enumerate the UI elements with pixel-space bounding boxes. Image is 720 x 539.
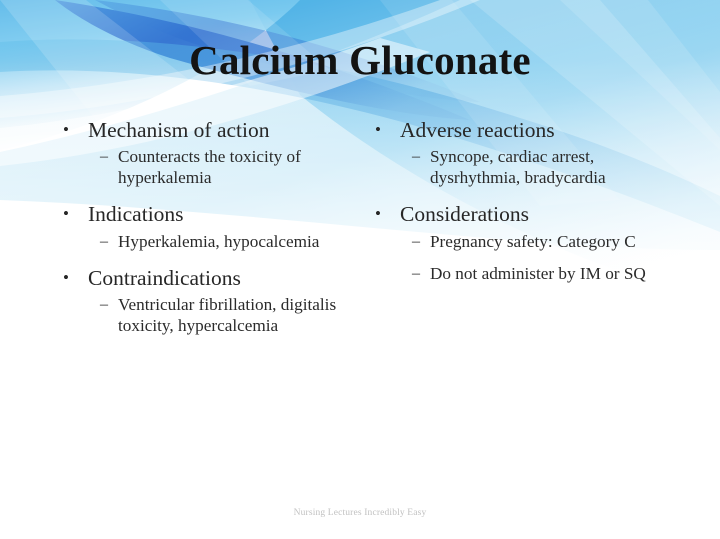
content-column-right: • Adverse reactions – Syncope, cardiac a…: [368, 118, 668, 287]
sub-bullet-label: Syncope, cardiac arrest, dysrhythmia, br…: [430, 147, 606, 187]
bullet-label: Mechanism of action: [88, 118, 270, 142]
sub-bullet-indications-0: – Hyperkalemia, hypocalcemia: [56, 232, 366, 253]
content-column-left: • Mechanism of action – Counteracts the …: [56, 118, 366, 339]
bullet-adverse-reactions: • Adverse reactions: [368, 118, 668, 143]
sub-bullet-label: Counteracts the toxicity of hyperkalemia: [118, 147, 301, 187]
footer-credit: Nursing Lectures Incredibly Easy: [0, 508, 720, 518]
sub-bullet-label: Ventricular fibrillation, digitalis toxi…: [118, 295, 336, 335]
bullet-considerations: • Considerations: [368, 202, 668, 227]
bullet-mechanism-of-action: • Mechanism of action: [56, 118, 366, 143]
dash-icon: –: [100, 147, 108, 167]
page-title: Calcium Gluconate: [0, 38, 720, 83]
bullet-contraindications: • Contraindications: [56, 266, 366, 291]
sub-bullet-considerations-0: – Pregnancy safety: Category C: [368, 232, 668, 253]
slide: Calcium Gluconate • Mechanism of action …: [0, 0, 720, 539]
sub-bullet-mechanism-0: – Counteracts the toxicity of hyperkalem…: [56, 147, 366, 189]
sub-bullet-label: Hyperkalemia, hypocalcemia: [118, 232, 319, 251]
bullet-indications: • Indications: [56, 202, 366, 227]
sub-bullet-contraindications-0: – Ventricular fibrillation, digitalis to…: [56, 295, 366, 337]
dash-icon: –: [412, 264, 420, 284]
sub-bullet-adverse-0: – Syncope, cardiac arrest, dysrhythmia, …: [368, 147, 668, 189]
sub-bullet-label: Do not administer by IM or SQ: [430, 264, 646, 283]
bullet-icon: •: [375, 118, 381, 142]
bullet-icon: •: [63, 118, 69, 142]
bullet-label: Considerations: [400, 202, 529, 226]
bullet-icon: •: [375, 202, 381, 226]
dash-icon: –: [412, 147, 420, 167]
bullet-label: Indications: [88, 202, 184, 226]
bullet-icon: •: [63, 202, 69, 226]
bullet-label: Adverse reactions: [400, 118, 555, 142]
dash-icon: –: [100, 295, 108, 315]
bullet-icon: •: [63, 266, 69, 290]
sub-bullet-considerations-1: – Do not administer by IM or SQ: [368, 264, 668, 285]
dash-icon: –: [412, 232, 420, 252]
bullet-label: Contraindications: [88, 266, 241, 290]
dash-icon: –: [100, 232, 108, 252]
sub-bullet-label: Pregnancy safety: Category C: [430, 232, 636, 251]
